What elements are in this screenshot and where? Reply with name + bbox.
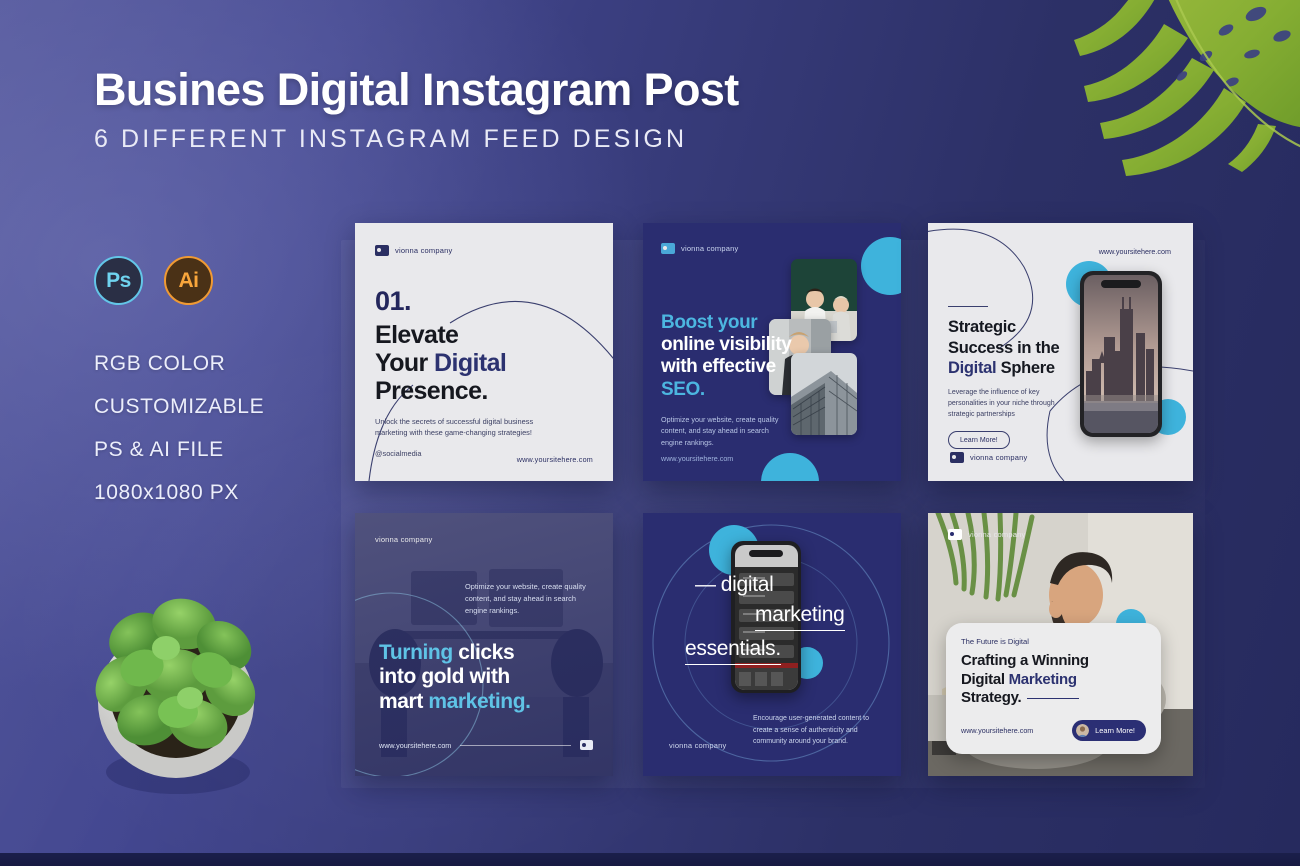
card2-heading-line3: with effective	[661, 356, 776, 377]
card4-heading-line1b: clicks	[458, 641, 514, 664]
card4-heading-line2: into gold with	[379, 665, 510, 688]
card3-logo: vionna company	[950, 452, 1027, 463]
card6-learn-more-label: Learn More!	[1095, 726, 1135, 735]
card4-footer: www.yoursitehere.com	[379, 740, 593, 750]
brand-logo-icon	[948, 529, 962, 540]
card3-heading-line3a: Digital	[948, 359, 1001, 377]
post-card-strategic[interactable]: www.yoursitehere.com Strategic Success i…	[928, 223, 1193, 481]
card2-body: Optimize your website, create quality co…	[661, 414, 781, 449]
potted-plant-icon	[78, 572, 274, 798]
bottom-strip	[0, 853, 1300, 866]
card1-heading-line2b: Digital	[434, 349, 506, 377]
header-block: Busines Digital Instagram Post 6 DIFFERE…	[94, 66, 739, 154]
card2-heading-line4: SEO.	[661, 379, 705, 400]
card6-heading-line2b: Marketing	[1009, 671, 1077, 688]
illustrator-badge-label: Ai	[179, 269, 199, 293]
card3-heading-line1: Strategic	[948, 318, 1016, 336]
card6-heading: Crafting a Winning Digital Marketing Str…	[961, 652, 1146, 708]
feature-item: PS & AI FILE	[94, 438, 264, 462]
card6-footer: www.yoursitehere.com Learn More!	[961, 720, 1146, 741]
card1-heading-line3: Presence.	[375, 377, 488, 405]
card2-heading-line1: Boost your	[661, 312, 757, 333]
feature-item: CUSTOMIZABLE	[94, 395, 264, 419]
brand-logo-icon	[580, 740, 593, 750]
card5-word-essentials: essentials.	[685, 637, 781, 665]
card6-learn-more-button[interactable]: Learn More!	[1072, 720, 1146, 741]
brand-name: vionna company	[395, 246, 452, 255]
illustrator-badge: Ai	[164, 256, 213, 305]
brand-name: vionna company	[968, 530, 1025, 539]
phone-notch	[749, 550, 783, 557]
software-badges: Ps Ai	[94, 256, 213, 305]
brand-name: vionna company	[669, 741, 726, 750]
feature-item: 1080x1080 PX	[94, 481, 264, 505]
feature-item: RGB COLOR	[94, 352, 264, 376]
avatar	[1076, 724, 1089, 737]
card3-learn-more-button[interactable]: Learn More!	[948, 431, 1010, 449]
card1-logo: vionna company	[375, 245, 593, 256]
card5-word-digital: digital	[695, 573, 773, 597]
brand-name: vionna company	[681, 244, 738, 253]
card6-url: www.yoursitehere.com	[961, 726, 1033, 735]
card6-heading-line3: Strategy.	[961, 689, 1021, 706]
brand-logo-icon	[950, 452, 964, 463]
card1-heading-line2a: Your	[375, 349, 434, 377]
card6-heading-line2a: Digital	[961, 671, 1009, 688]
card1-heading: Elevate Your Digital Presence.	[375, 321, 593, 405]
card5-logo: vionna company	[669, 736, 726, 750]
card5-word-marketing: marketing	[755, 603, 845, 631]
phone-notch	[1101, 280, 1141, 288]
card1-number: 01.	[375, 286, 593, 317]
post-card-elevate[interactable]: vionna company 01. Elevate Your Digital …	[355, 223, 613, 481]
card2-heading-line2: online visibility	[661, 334, 791, 355]
card3-rule	[948, 306, 988, 307]
post-card-crafting[interactable]: vionna company The Future is Digital Cra…	[928, 513, 1193, 776]
post-card-essentials[interactable]: digital marketing essentials. vionna com…	[643, 513, 901, 776]
feature-list: RGB COLOR CUSTOMIZABLE PS & AI FILE 1080…	[94, 352, 264, 524]
card6-logo: vionna company	[948, 529, 1025, 540]
card3-body: Leverage the influence of key personalit…	[948, 387, 1056, 421]
page-subtitle: 6 DIFFERENT INSTAGRAM FEED DESIGN	[94, 125, 739, 154]
instagram-post-grid: vionna company 01. Elevate Your Digital …	[355, 223, 1195, 779]
post-card-turning[interactable]: vionna company Optimize your website, cr…	[355, 513, 613, 776]
card6-heading-line1: Crafting a Winning	[961, 652, 1089, 669]
card4-url: www.yoursitehere.com	[379, 741, 451, 750]
card2-logo: vionna company	[661, 243, 883, 254]
card2-heading: Boost your online visibility with effect…	[661, 312, 883, 401]
card3-heading-line2: Success in the	[948, 339, 1059, 357]
card5-body: Encourage user-generated content to crea…	[753, 713, 881, 748]
card4-body: Optimize your website, create quality co…	[465, 581, 593, 617]
card1-body: Unlock the secrets of successful digital…	[375, 416, 540, 439]
card3-heading-line3b: Sphere	[1001, 359, 1055, 377]
post-card-seo[interactable]: vionna company Boost your online visibil…	[643, 223, 901, 481]
brand-logo-icon	[375, 245, 389, 256]
card6-kicker: The Future is Digital	[961, 637, 1146, 646]
page-title: Busines Digital Instagram Post	[94, 66, 739, 113]
card4-divider-line	[460, 745, 571, 746]
brand-logo-icon	[661, 243, 675, 254]
card6-underline	[1027, 698, 1079, 699]
card4-heading: Turning clicks into gold with mart marke…	[379, 641, 531, 714]
card4-heading-line1a: Turning	[379, 641, 458, 664]
brand-name: vionna company	[970, 453, 1027, 462]
card3-heading: Strategic Success in the Digital Sphere	[948, 317, 1173, 377]
card1-url: www.yoursitehere.com	[517, 455, 593, 464]
brand-name: vionna company	[375, 535, 432, 544]
card4-logo: vionna company	[375, 535, 593, 544]
card6-content-panel: The Future is Digital Crafting a Winning…	[946, 623, 1161, 754]
card3-url: www.yoursitehere.com	[1099, 247, 1171, 256]
card2-url: www.yoursitehere.com	[661, 454, 733, 463]
card4-heading-line3b: marketing.	[428, 690, 530, 713]
monstera-leaf-icon	[1056, 0, 1300, 178]
photoshop-badge-label: Ps	[106, 269, 131, 293]
photoshop-badge: Ps	[94, 256, 143, 305]
card1-heading-line1: Elevate	[375, 321, 458, 349]
card4-heading-line3a: mart	[379, 690, 428, 713]
